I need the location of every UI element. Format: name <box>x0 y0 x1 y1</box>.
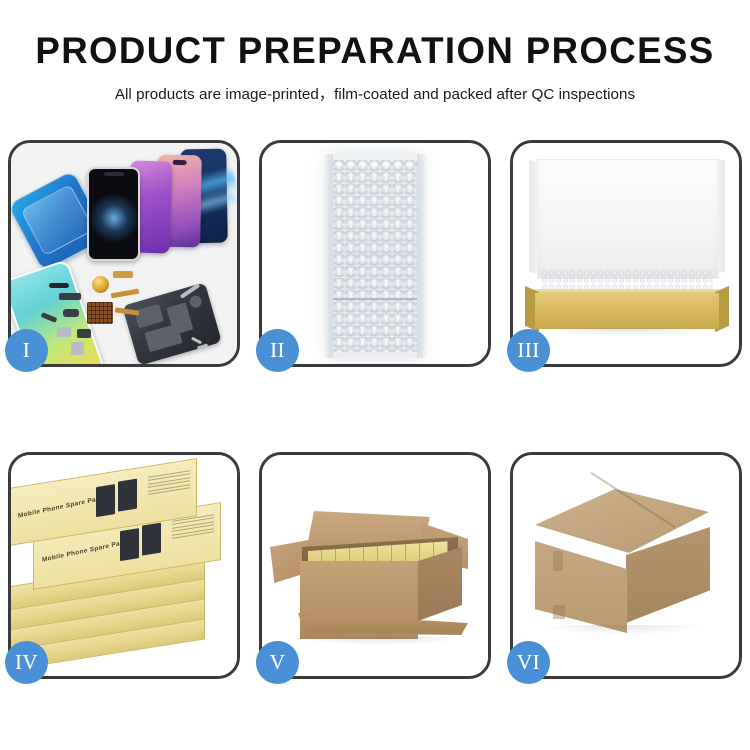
process-step-grid: I II <box>8 140 742 679</box>
tempered-glass-screen <box>87 167 140 261</box>
bubble-wrap-edge-left <box>323 154 333 358</box>
step-badge-5: V <box>256 641 299 684</box>
gradient-phone-camera <box>173 160 187 165</box>
box-front-panel <box>535 293 719 329</box>
panel-image-1 <box>11 143 237 364</box>
box-lid <box>537 159 719 279</box>
step-badge-3: III <box>507 329 550 372</box>
scene-stacked-boxes: Mobile Phone Spare Parts Mobile Phone Sp… <box>11 455 237 676</box>
process-step-panel-1[interactable]: I <box>8 140 240 367</box>
bracket-part-1 <box>59 293 81 300</box>
step-badge-1: I <box>5 329 48 372</box>
housing-camera-ring <box>188 294 203 309</box>
step-badge-2: II <box>256 329 299 372</box>
process-step-panel-3[interactable]: III <box>510 140 742 367</box>
box-product-image-2a <box>120 528 139 561</box>
box-product-image-1a <box>96 484 115 517</box>
box-brand-text-1: Mobile Phone Spare Parts <box>18 494 105 519</box>
screen-wallpaper-burst <box>87 191 140 245</box>
button-part <box>77 329 91 338</box>
ic-chip-part <box>87 302 113 324</box>
housing-module-a <box>134 304 164 328</box>
scene-carton-filling <box>262 455 488 676</box>
page-subtitle: All products are image-printed，film-coat… <box>0 82 750 104</box>
bracket-part-2 <box>63 309 79 317</box>
box-product-image-1b <box>118 479 137 512</box>
panel-image-6 <box>513 455 739 676</box>
carton-drop-shadow <box>298 637 464 646</box>
bubble-wrap-edge-right <box>417 154 427 358</box>
box-product-image-2b <box>142 523 161 556</box>
process-step-panel-2[interactable]: II <box>259 140 491 367</box>
scene-bubble-wrap <box>262 143 488 364</box>
scene-inner-box <box>513 143 739 364</box>
page-title: PRODUCT PREPARATION PROCESS <box>4 32 747 71</box>
step-badge-6: VI <box>507 641 550 684</box>
antenna-strip-part <box>49 283 69 288</box>
box-brand-text-2: Mobile Phone Spare Parts <box>42 538 129 563</box>
panel-image-2 <box>262 143 488 364</box>
step-badge-4: IV <box>5 641 48 684</box>
scene-phone-parts <box>11 143 237 364</box>
process-step-panel-6[interactable]: VI <box>510 452 742 679</box>
box-drop-shadow <box>539 328 715 336</box>
bubble-wrap-seam <box>333 298 417 300</box>
carton-drop-shadow <box>539 625 707 635</box>
box-spec-lines-1 <box>148 470 190 497</box>
screen-notch <box>104 172 124 176</box>
speaker-coin-part <box>92 276 109 293</box>
housing-battery <box>144 324 182 353</box>
metal-shield-part <box>57 327 71 337</box>
panel-image-3 <box>513 143 739 364</box>
carton-tape-front <box>553 551 563 571</box>
process-step-panel-4[interactable]: Mobile Phone Spare Parts Mobile Phone Sp… <box>8 452 240 679</box>
carton-tape-front-lower <box>553 605 565 619</box>
gold-connector-part <box>113 271 133 278</box>
process-step-panel-5[interactable]: V <box>259 452 491 679</box>
sim-tray-part <box>71 342 84 355</box>
bubble-pattern-back <box>333 166 417 352</box>
page-header: PRODUCT PREPARATION PROCESS All products… <box>0 0 750 104</box>
panel-image-5 <box>262 455 488 676</box>
panel-image-4: Mobile Phone Spare Parts Mobile Phone Sp… <box>11 455 237 676</box>
scene-sealed-carton <box>513 455 739 676</box>
